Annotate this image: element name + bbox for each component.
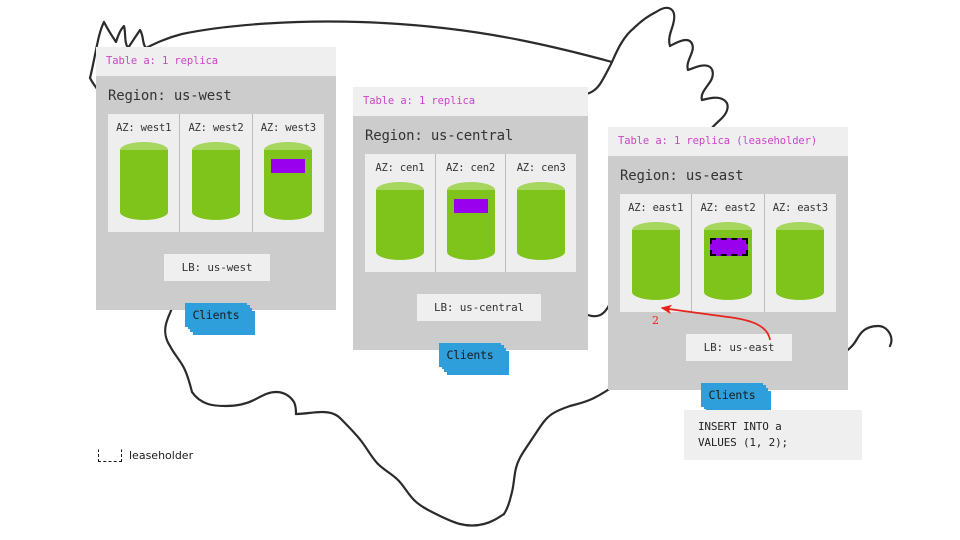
replica-cylinder-cen1[interactable] (376, 182, 424, 260)
cylinder-bottom-icon (376, 244, 424, 260)
az-label-cen3: AZ: cen3 (517, 162, 566, 174)
az-strip-us-central: AZ: cen1 AZ: cen2 (365, 154, 576, 272)
cylinder-body-icon (120, 150, 168, 212)
replica-cylinder-west1[interactable] (120, 142, 168, 220)
load-balancer-us-west[interactable]: LB: us-west (164, 254, 270, 281)
az-cell-east2[interactable]: AZ: east2 (691, 194, 763, 312)
replica-cylinder-west2[interactable] (192, 142, 240, 220)
diagram-canvas: Table a: 1 replica Region: us-west AZ: w… (0, 0, 960, 540)
az-label-east2: AZ: east2 (700, 202, 755, 214)
region-card-us-west: Table a: 1 replica Region: us-west AZ: w… (96, 47, 336, 310)
az-label-cen2: AZ: cen2 (446, 162, 495, 174)
clients-stack-us-central[interactable]: Clients (439, 343, 511, 377)
cylinder-bottom-icon (704, 284, 752, 300)
range-leaseholder-east2[interactable] (710, 238, 748, 256)
cylinder-bottom-icon (120, 204, 168, 220)
range-replica-west3[interactable] (271, 159, 305, 173)
clients-button-us-central[interactable]: Clients (439, 343, 501, 367)
cylinder-bottom-icon (192, 204, 240, 220)
az-label-east1: AZ: east1 (628, 202, 683, 214)
cylinder-bottom-icon (776, 284, 824, 300)
az-cell-west3[interactable]: AZ: west3 (252, 114, 324, 232)
az-cell-west1[interactable]: AZ: west1 (108, 114, 179, 232)
cylinder-body-icon (632, 230, 680, 292)
az-cell-east3[interactable]: AZ: east3 (764, 194, 836, 312)
az-label-east3: AZ: east3 (773, 202, 828, 214)
region-title-us-west: Region: us-west (96, 76, 336, 114)
az-cell-west2[interactable]: AZ: west2 (179, 114, 251, 232)
cylinder-bottom-icon (632, 284, 680, 300)
cylinder-body-icon (776, 230, 824, 292)
clients-button-us-west[interactable]: Clients (185, 303, 247, 327)
clients-stack-us-west[interactable]: Clients (185, 303, 257, 337)
cylinder-body-icon (517, 190, 565, 252)
replica-cylinder-east2[interactable] (704, 222, 752, 300)
load-balancer-us-east[interactable]: LB: us-east (686, 334, 792, 361)
az-label-west1: AZ: west1 (116, 122, 171, 134)
cylinder-bottom-icon (264, 204, 312, 220)
replica-cylinder-east3[interactable] (776, 222, 824, 300)
cylinder-body-icon (376, 190, 424, 252)
az-strip-us-east: AZ: east1 AZ: east2 (620, 194, 836, 312)
legend: leaseholder (98, 449, 193, 462)
replica-cylinder-east1[interactable] (632, 222, 680, 300)
legend-label: leaseholder (129, 449, 193, 462)
region-card-us-central: Table a: 1 replica Region: us-central AZ… (353, 87, 588, 350)
replica-cylinder-cen2[interactable] (447, 182, 495, 260)
replica-cylinder-west3[interactable] (264, 142, 312, 220)
arrow-step-label-2: 2 (652, 314, 659, 327)
region-card-us-east: Table a: 1 replica (leaseholder) Region:… (608, 127, 848, 390)
sql-statement-box: INSERT INTO a VALUES (1, 2); (684, 410, 862, 460)
load-balancer-us-central[interactable]: LB: us-central (417, 294, 541, 321)
region-title-us-east: Region: us-east (608, 156, 848, 194)
replica-cylinder-cen3[interactable] (517, 182, 565, 260)
az-label-west2: AZ: west2 (188, 122, 243, 134)
region-header-us-west: Table a: 1 replica (96, 47, 336, 76)
region-title-us-central: Region: us-central (353, 116, 588, 154)
az-label-cen1: AZ: cen1 (375, 162, 424, 174)
region-header-us-central: Table a: 1 replica (353, 87, 588, 116)
cylinder-body-icon (192, 150, 240, 212)
cylinder-bottom-icon (447, 244, 495, 260)
dashed-rect-icon (98, 449, 122, 462)
az-cell-cen3[interactable]: AZ: cen3 (505, 154, 576, 272)
region-header-us-east: Table a: 1 replica (leaseholder) (608, 127, 848, 156)
cylinder-bottom-icon (517, 244, 565, 260)
az-cell-cen1[interactable]: AZ: cen1 (365, 154, 435, 272)
range-replica-cen2[interactable] (454, 199, 488, 213)
az-cell-east1[interactable]: AZ: east1 (620, 194, 691, 312)
az-label-west3: AZ: west3 (261, 122, 316, 134)
az-strip-us-west: AZ: west1 AZ: west2 AZ (108, 114, 324, 232)
az-cell-cen2[interactable]: AZ: cen2 (435, 154, 506, 272)
clients-button-us-east[interactable]: Clients (701, 383, 763, 407)
